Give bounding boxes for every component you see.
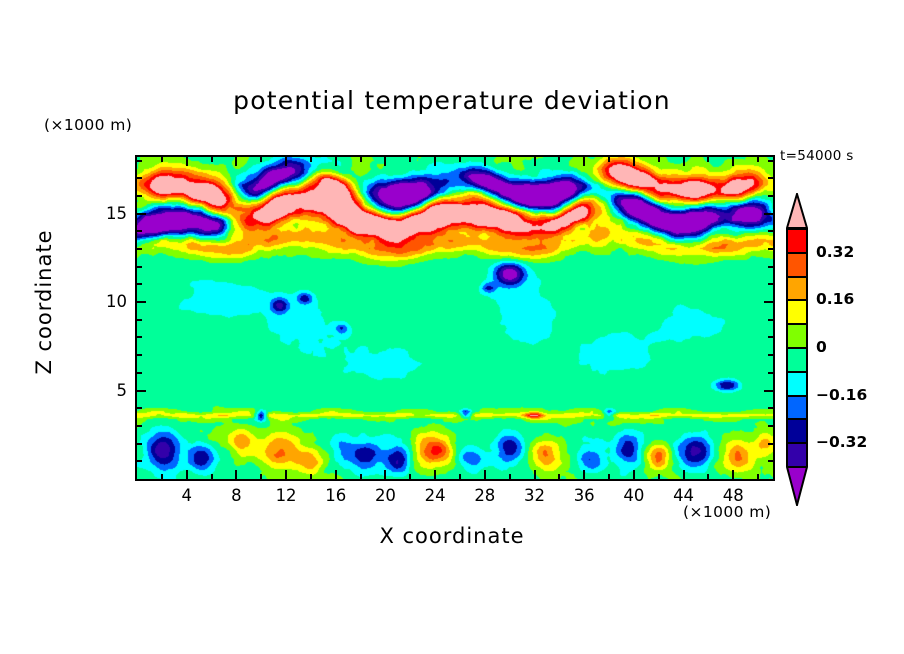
colorbar-band	[788, 278, 806, 302]
y-tick-minor-right	[768, 248, 773, 250]
colorbar-arrow-top	[786, 193, 808, 229]
x-tick-minor	[310, 474, 312, 479]
y-tick-minor	[137, 283, 142, 285]
x-tick-major	[335, 470, 337, 479]
x-tick-minor	[558, 474, 560, 479]
x-tick-minor	[459, 474, 461, 479]
x-tick-major-top	[186, 157, 188, 166]
x-tick-minor-top	[360, 157, 362, 162]
x-tick-minor-top	[757, 157, 759, 162]
colorbar-tick-label: −0.16	[816, 386, 867, 404]
x-tick-major	[583, 470, 585, 479]
x-tick-minor-top	[409, 157, 411, 162]
x-tick-major-top	[335, 157, 337, 166]
x-tick-major	[285, 470, 287, 479]
contour-field-canvas	[137, 157, 773, 479]
y-tick-minor-right	[768, 425, 773, 427]
y-axis-title: Z coordinate	[32, 222, 56, 382]
y-tick-minor	[137, 230, 142, 232]
x-tick-minor-top	[608, 157, 610, 162]
colorbar-band	[788, 254, 806, 278]
x-tick-major	[235, 470, 237, 479]
x-tick-major	[633, 470, 635, 479]
y-tick-minor	[137, 425, 142, 427]
x-tick-major-top	[633, 157, 635, 166]
x-tick-minor	[211, 474, 213, 479]
figure-root: potential temperature deviation (×1000 m…	[0, 0, 904, 654]
colorbar-band	[788, 397, 806, 421]
y-tick-major-right	[764, 301, 773, 303]
x-tick-minor-top	[161, 157, 163, 162]
colorbar-band	[788, 373, 806, 397]
x-tick-major-top	[285, 157, 287, 166]
x-tick-minor	[360, 474, 362, 479]
x-tick-minor-top	[707, 157, 709, 162]
y-tick-major-right	[764, 213, 773, 215]
y-tick-minor	[137, 336, 142, 338]
y-tick-minor	[137, 407, 142, 409]
y-tick-minor	[137, 460, 142, 462]
y-tick-minor-right	[768, 230, 773, 232]
y-tick-major-right	[764, 390, 773, 392]
y-tick-label: 10	[85, 292, 127, 311]
x-tick-major	[484, 470, 486, 479]
x-tick-minor	[757, 474, 759, 479]
y-tick-minor-right	[768, 177, 773, 179]
x-axis-title: X coordinate	[0, 524, 904, 548]
y-tick-major	[137, 301, 146, 303]
x-tick-minor-top	[558, 157, 560, 162]
x-tick-minor	[608, 474, 610, 479]
colorbar-band	[788, 444, 806, 468]
y-tick-minor	[137, 319, 142, 321]
y-tick-minor	[137, 266, 142, 268]
colorbar: 0.320.160−0.16−0.32	[786, 193, 810, 503]
x-axis-units: (×1000 m)	[683, 503, 771, 521]
x-tick-minor-top	[658, 157, 660, 162]
colorbar-band	[788, 349, 806, 373]
y-tick-minor-right	[768, 460, 773, 462]
y-tick-minor-right	[768, 336, 773, 338]
y-tick-label: 5	[85, 381, 127, 400]
x-tick-minor	[260, 474, 262, 479]
y-tick-minor-right	[768, 160, 773, 162]
x-tick-major	[732, 470, 734, 479]
x-tick-minor	[409, 474, 411, 479]
colorbar-tick-label: 0.16	[816, 290, 854, 308]
colorbar-band	[788, 301, 806, 325]
y-tick-minor-right	[768, 266, 773, 268]
x-tick-major	[434, 470, 436, 479]
colorbar-band	[788, 420, 806, 444]
x-tick-major-top	[732, 157, 734, 166]
y-tick-minor	[137, 248, 142, 250]
x-tick-major	[534, 470, 536, 479]
y-tick-label: 15	[85, 204, 127, 223]
x-tick-minor	[161, 474, 163, 479]
y-tick-major	[137, 390, 146, 392]
y-tick-minor-right	[768, 319, 773, 321]
y-tick-minor	[137, 195, 142, 197]
y-tick-minor-right	[768, 407, 773, 409]
x-tick-minor	[707, 474, 709, 479]
x-tick-minor-top	[211, 157, 213, 162]
y-tick-minor	[137, 443, 142, 445]
x-tick-minor-top	[459, 157, 461, 162]
x-tick-major-top	[235, 157, 237, 166]
y-tick-minor-right	[768, 283, 773, 285]
x-tick-major-top	[434, 157, 436, 166]
x-tick-major-top	[583, 157, 585, 166]
colorbar-arrow-bottom	[786, 466, 808, 506]
page-title: potential temperature deviation	[0, 86, 904, 115]
x-tick-major	[384, 470, 386, 479]
y-tick-minor-right	[768, 443, 773, 445]
x-tick-minor	[509, 474, 511, 479]
y-axis-units: (×1000 m)	[44, 116, 132, 134]
y-tick-minor-right	[768, 195, 773, 197]
timestamp-label: t=54000 s	[780, 148, 854, 164]
x-tick-major-top	[534, 157, 536, 166]
y-tick-minor	[137, 177, 142, 179]
x-tick-major-top	[484, 157, 486, 166]
colorbar-tick-label: −0.32	[816, 433, 867, 451]
x-tick-minor-top	[260, 157, 262, 162]
colorbar-tick-label: 0	[816, 338, 827, 356]
x-tick-major	[683, 470, 685, 479]
x-tick-minor-top	[310, 157, 312, 162]
y-tick-minor-right	[768, 372, 773, 374]
y-tick-minor-right	[768, 354, 773, 356]
colorbar-band	[788, 325, 806, 349]
y-tick-major	[137, 213, 146, 215]
colorbar-tick-label: 0.32	[816, 243, 854, 261]
contour-plot-area	[137, 157, 773, 479]
x-tick-minor	[658, 474, 660, 479]
y-tick-minor	[137, 354, 142, 356]
colorbar-band-box	[786, 228, 808, 466]
x-tick-major	[186, 470, 188, 479]
x-tick-major-top	[384, 157, 386, 166]
colorbar-band	[788, 230, 806, 254]
y-tick-minor	[137, 372, 142, 374]
x-tick-minor-top	[509, 157, 511, 162]
y-tick-minor	[137, 160, 142, 162]
x-tick-major-top	[683, 157, 685, 166]
